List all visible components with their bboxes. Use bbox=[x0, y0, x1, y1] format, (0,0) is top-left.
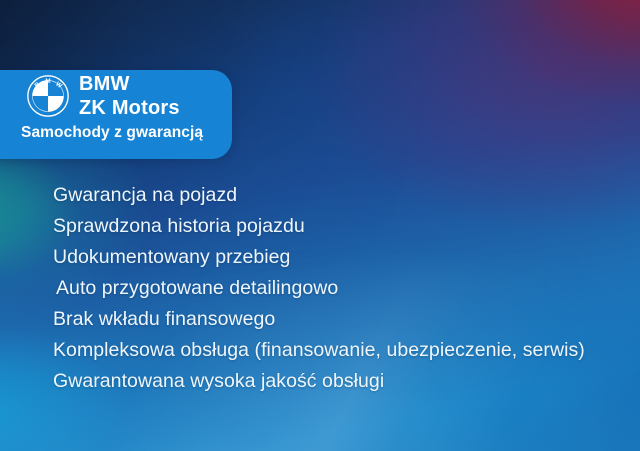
feature-list: Gwarancja na pojazd Sprawdzona historia … bbox=[0, 180, 640, 397]
feature-item: Brak wkładu finansowego bbox=[0, 304, 640, 335]
brand-name-block: BMW ZK Motors bbox=[79, 74, 180, 118]
feature-item: Auto przygotowane detailingowo bbox=[0, 273, 640, 304]
feature-item: Gwarancja na pojazd bbox=[0, 180, 640, 211]
brand-line-bmw: BMW bbox=[79, 74, 180, 94]
feature-item: Sprawdzona historia pojazdu bbox=[0, 211, 640, 242]
brand-badge: B M W BMW ZK Motors Samochody z gwarancj… bbox=[0, 70, 232, 159]
feature-item: Gwarantowana wysoka jakość obsługi bbox=[0, 366, 640, 397]
feature-item: Kompleksowa obsługa (finansowanie, ubezp… bbox=[0, 335, 640, 366]
brand-badge-row: B M W BMW ZK Motors bbox=[0, 74, 180, 118]
bmw-roundel-icon: B M W bbox=[27, 75, 69, 117]
brand-line-dealer: ZK Motors bbox=[79, 98, 180, 118]
feature-item: Udokumentowany przebieg bbox=[0, 242, 640, 273]
svg-text:M: M bbox=[45, 78, 50, 85]
brand-tagline: Samochody z gwarancją bbox=[21, 124, 203, 142]
promo-banner: B M W BMW ZK Motors Samochody z gwarancj… bbox=[0, 0, 640, 451]
